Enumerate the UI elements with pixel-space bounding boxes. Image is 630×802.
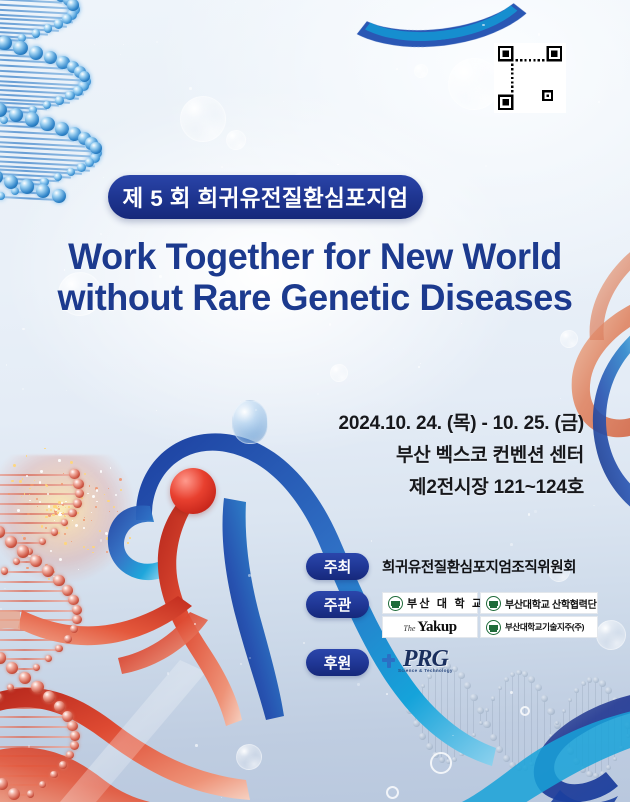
title-line-1: Work Together for New World [13, 236, 618, 277]
event-date: 2024.10. 24. (목) - 10. 25. (금) [339, 408, 584, 440]
qr-code[interactable] [494, 43, 566, 113]
organizer-logo-row: 부산 대 학 교 부산대학교 산학협력단 [382, 592, 598, 614]
page-title: Work Together for New World without Rare… [0, 236, 630, 318]
organizer-logos: 부산 대 학 교 부산대학교 산학협력단 The Yak [382, 592, 598, 638]
event-venue-detail: 제2전시장 121~124호 [339, 472, 584, 504]
event-info: 2024.10. 24. (목) - 10. 25. (금) 부산 벡스코 컨벤… [339, 408, 584, 504]
logo-prg: PRG Science & Technology [382, 649, 453, 673]
poster: 제 5 회 희귀유전질환심포지엄 Work Together for New W… [0, 0, 630, 802]
logo-pnu-industry-academic-foundation: 부산대학교 산학협력단 [480, 592, 598, 614]
host-badge: 주최 [306, 553, 369, 580]
poster-content: 제 5 회 희귀유전질환심포지엄 Work Together for New W… [0, 0, 630, 802]
credit-row-organizer: 주관 부산 대 학 교 부산대학교 산학협력단 [306, 591, 606, 638]
organizer-logo-row: The Yakup 부산대학교기술지주(주) [382, 616, 598, 638]
logo-the-yakup: The Yakup [382, 616, 478, 638]
prg-tagline: Science & Technology [398, 668, 453, 673]
university-seal-icon [388, 596, 403, 611]
university-seal-icon [486, 596, 501, 611]
title-line-2: without Rare Genetic Diseases [13, 277, 618, 318]
credits: 주최 희귀유전질환심포지엄조직위원회 주관 부산 대 학 교 [306, 553, 606, 687]
event-venue: 부산 벡스코 컨벤션 센터 [339, 440, 584, 472]
edition-badge-label: 제 5 회 희귀유전질환심포지엄 [122, 181, 408, 213]
logo-pnu-technology-holdings: 부산대학교기술지주(주) [480, 616, 598, 638]
medical-cross-icon [382, 654, 395, 668]
credit-row-host: 주최 희귀유전질환심포지엄조직위원회 [306, 553, 606, 580]
logo-pusan-national-university: 부산 대 학 교 [382, 592, 478, 614]
organizer-badge: 주관 [306, 591, 369, 618]
edition-badge: 제 5 회 희귀유전질환심포지엄 [108, 175, 423, 219]
university-seal-icon [486, 620, 501, 635]
host-name: 희귀유전질환심포지엄조직위원회 [382, 556, 576, 577]
credit-row-sponsor: 후원 PRG Science & Technology [306, 649, 606, 676]
sponsor-badge: 후원 [306, 649, 369, 676]
